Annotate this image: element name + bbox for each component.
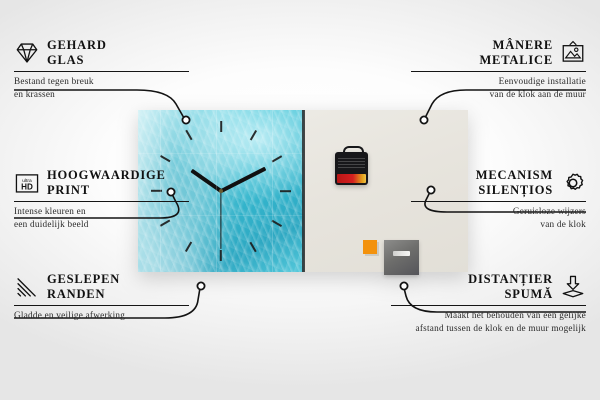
infographic-canvas: GEHARD GLAS Bestand tegen breuk en krass…: [0, 0, 600, 400]
gear-icon: [560, 170, 586, 196]
foam-spacer: [363, 240, 377, 254]
clock-tick: [280, 190, 291, 192]
feature-description: Bestand tegen breuk en krassen: [14, 75, 189, 102]
clock-tick: [250, 242, 257, 252]
feature-divider: [411, 201, 586, 202]
diamond-icon: [14, 40, 40, 66]
clock-minute-hand: [220, 167, 266, 193]
clock-tick: [160, 155, 170, 162]
clock-second-hand: [220, 191, 221, 249]
hanger-slot: [393, 251, 410, 256]
feature-title: MECANISM SILENȚIOS: [476, 168, 553, 198]
feature-description: Gladde en veilige afwerking: [14, 309, 189, 322]
clock-tick: [272, 220, 282, 227]
feature-gehard-glas: GEHARD GLAS Bestand tegen breuk en krass…: [14, 38, 189, 102]
spacer-arrow-icon: [560, 274, 586, 300]
feature-divider: [391, 305, 586, 306]
clock-tick: [250, 130, 257, 140]
feature-divider: [14, 71, 189, 72]
feature-title: GESLEPEN RANDEN: [47, 272, 120, 302]
clock-hour-hand: [190, 169, 222, 193]
metal-hanger-plate: [384, 240, 419, 275]
clock-center-hub: [219, 189, 223, 193]
feature-mecanism-silentios: MECANISM SILENȚIOS Geruisloze wijzers va…: [411, 168, 586, 232]
feature-title: HOOGWAARDIGE PRINT: [47, 168, 166, 198]
clock-tick: [220, 121, 222, 132]
feature-manere-metalice: MÂNERE METALICE Eenvoudige installatie v…: [411, 38, 586, 102]
feature-description: Intense kleuren en een duidelijk beeld: [14, 205, 189, 232]
feature-divider: [14, 201, 189, 202]
feature-description: Geruisloze wijzers van de klok: [411, 205, 586, 232]
feature-distantier-spuma: DISTANȚIER SPUMĂ Maakt het behouden van …: [391, 272, 586, 336]
mechanism-bail: [343, 146, 364, 157]
ultra-hd-icon: ultra HD: [14, 170, 40, 196]
feature-title: DISTANȚIER SPUMĂ: [468, 272, 553, 302]
feature-title: GEHARD GLAS: [47, 38, 107, 68]
feature-description: Maakt het behouden van een gelijke afsta…: [391, 309, 586, 336]
feature-divider: [411, 71, 586, 72]
beveled-edges-icon: [14, 274, 40, 300]
feature-title: MÂNERE METALICE: [479, 38, 553, 68]
feature-divider: [14, 305, 189, 306]
clock-tick: [220, 250, 222, 261]
feature-geslepen-randen: GESLEPEN RANDEN Gladde en veilige afwerk…: [14, 272, 189, 322]
svg-text:HD: HD: [21, 182, 33, 191]
mechanism-label: [338, 157, 365, 168]
aa-battery: [337, 174, 366, 183]
feature-description: Eenvoudige installatie van de klok aan d…: [411, 75, 586, 102]
clock-tick: [185, 130, 192, 140]
clock-tick: [185, 242, 192, 252]
quartz-mechanism: [335, 152, 368, 185]
callout-dot-bottom-left: [197, 282, 204, 289]
feature-hoogwaardige-print: ultra HD HOOGWAARDIGE PRINT Intense kleu…: [14, 168, 189, 232]
clock-tick: [272, 155, 282, 162]
picture-hanger-icon: [560, 40, 586, 66]
